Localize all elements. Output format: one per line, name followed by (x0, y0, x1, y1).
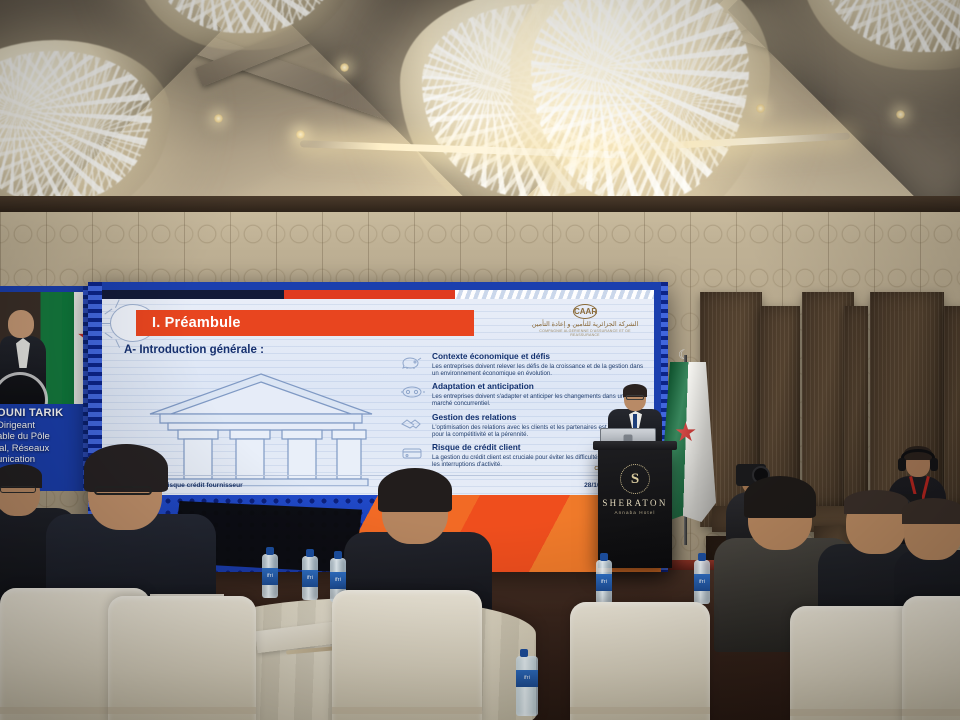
water-bottle: ifri (302, 556, 318, 600)
bottle-label: ifri (302, 570, 318, 587)
audience-hair (84, 444, 168, 492)
slide-section-title-text: I. Préambule (136, 315, 241, 331)
downlight-icon (340, 63, 349, 72)
downlight-icon (756, 104, 765, 113)
audience-hair (744, 476, 816, 518)
chair-sash (332, 707, 482, 714)
bottle-label: ifri (262, 568, 278, 585)
wall-trim (0, 196, 960, 212)
audience-hair (902, 498, 960, 524)
speaker-name: OUNI TARIK (0, 408, 91, 420)
downlight-icon (896, 110, 905, 119)
eyeglasses-icon (94, 486, 152, 495)
presenter-tie (633, 414, 637, 429)
water-bottle: ifri (262, 554, 278, 598)
credit-risk-icon (400, 443, 426, 468)
caar-arabic-text: الشركة الجزائرية للتأمين و إعادة التأمين (530, 321, 640, 329)
bottle-label: ifri (516, 670, 538, 687)
downlight-icon (214, 114, 223, 123)
bullet-heading: Contexte économique et défis (432, 352, 644, 362)
chandelier (510, 0, 770, 205)
headphone-cup-icon (898, 458, 906, 471)
bottle-label: ifri (330, 572, 346, 589)
banquet-chair (332, 590, 482, 720)
bullet-body: Les entreprises doivent relever les défi… (432, 363, 644, 377)
sheraton-logo-icon: S (620, 464, 650, 494)
slide-subtitle: A- Introduction générale : (124, 344, 264, 356)
chair-sash (570, 707, 710, 714)
slide-bullet: Contexte économique et défis Les entrepr… (400, 352, 644, 377)
water-bottle: ifri (516, 656, 538, 716)
ceiling (0, 0, 960, 205)
speaker-role-2: able du Pôle (0, 431, 91, 443)
banquet-chair (108, 596, 256, 720)
adaptation-icon (400, 382, 426, 407)
chair-sash (902, 709, 960, 716)
bottle-label: ifri (596, 574, 612, 591)
banquet-chair (570, 602, 710, 720)
banquet-chair (902, 596, 960, 720)
podium-top (593, 441, 677, 450)
conference-hall-photo: ★ OUNI TARIK Dirigeant able du Pôle ial,… (0, 0, 960, 720)
handshake-icon (400, 413, 426, 438)
speaker-head (8, 310, 34, 338)
downlight-icon (296, 130, 305, 139)
speaker-role-1: Dirigeant (0, 420, 91, 432)
water-bottle: ifri (694, 560, 710, 604)
caar-logo-icon: CAAR (573, 304, 597, 319)
presenter-glasses-icon (626, 395, 644, 400)
sheraton-hotel-name: Annaba Hotel (598, 510, 672, 515)
piggy-bank-icon (400, 352, 426, 377)
chair-sash (108, 707, 256, 714)
caar-french-text: COMPAGNIE ALGERIENNE D'ASSURANCE ET DE R… (530, 329, 640, 337)
slide-section-title: I. Préambule (136, 310, 474, 336)
sheraton-wordmark: SHERATON (598, 498, 672, 508)
podium: S SHERATON Annaba Hotel (598, 448, 672, 568)
slide-hatch-decor (455, 290, 654, 299)
eyeglasses-icon (0, 486, 36, 493)
bottle-label: ifri (694, 574, 710, 591)
audience-hair (0, 464, 42, 488)
slide-brand-logo: CAAR الشركة الجزائرية للتأمين و إعادة ال… (530, 304, 640, 337)
speaker-video-feed: ★ (0, 292, 90, 404)
audience-hair (378, 468, 452, 512)
water-bottle: ifri (596, 560, 612, 604)
headphone-cup-icon (930, 458, 938, 471)
